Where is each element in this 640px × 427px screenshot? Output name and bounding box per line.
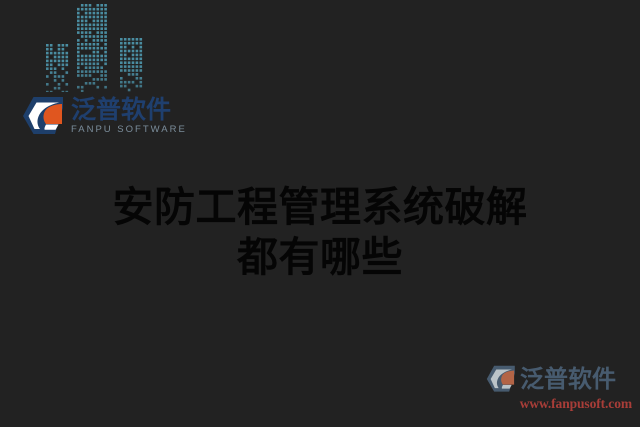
dot-matrix-skyline-icon (46, 0, 150, 92)
watermark-brand-name: 泛普软件 (520, 367, 616, 391)
headline-line-2: 都有哪些 (0, 232, 640, 282)
brand-name-en: FANPU SOFTWARE (71, 124, 187, 135)
watermark-logo-row: 泛普软件 (486, 363, 632, 395)
fanpu-logo-mark-icon (22, 96, 66, 136)
brand-name-cn: 泛普软件 (71, 97, 187, 123)
corner-watermark: 泛普软件 www.fanpusoft.com (486, 363, 632, 415)
headline-title: 安防工程管理系统破解 都有哪些 (0, 182, 640, 282)
watermark-fanpu-logo-mark-icon (486, 365, 517, 393)
watermark-url: www.fanpusoft.com (486, 396, 632, 412)
brand-logo-lockup: 泛普软件 FANPU SOFTWARE (22, 93, 182, 139)
banner-canvas: 泛普软件 FANPU SOFTWARE 安防工程管理系统破解 都有哪些 泛普软件… (0, 0, 640, 427)
brand-wordmark: 泛普软件 FANPU SOFTWARE (71, 97, 187, 136)
headline-line-1: 安防工程管理系统破解 (0, 182, 640, 232)
